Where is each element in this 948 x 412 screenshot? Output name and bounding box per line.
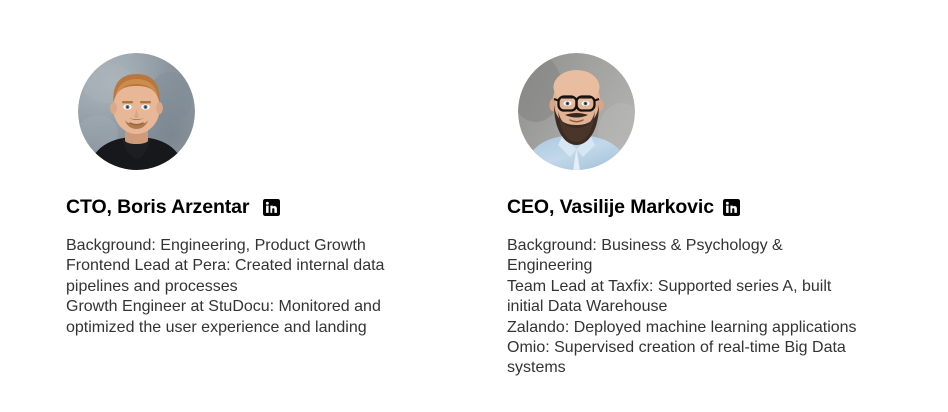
member-bio: Background: Engineering, Product Growth … bbox=[66, 236, 416, 338]
member-name: CEO, Vasilije Markovic bbox=[507, 198, 714, 218]
member-name-row: CTO, Boris Arzentar bbox=[66, 198, 280, 218]
member-bio: Background: Business & Psychology & Engi… bbox=[507, 236, 857, 379]
avatar bbox=[518, 53, 635, 170]
member-name-row: CEO, Vasilije Markovic bbox=[507, 198, 740, 218]
team-members-section: CTO, Boris Arzentar Background: Engineer… bbox=[0, 0, 948, 412]
avatar bbox=[78, 53, 195, 170]
member-name: CTO, Boris Arzentar bbox=[66, 198, 249, 218]
team-member-card: CTO, Boris Arzentar Background: Engineer… bbox=[66, 0, 507, 412]
team-member-card: CEO, Vasilije Markovic Background: Busin… bbox=[507, 0, 948, 412]
linkedin-icon[interactable] bbox=[263, 199, 280, 216]
linkedin-icon[interactable] bbox=[723, 199, 740, 216]
